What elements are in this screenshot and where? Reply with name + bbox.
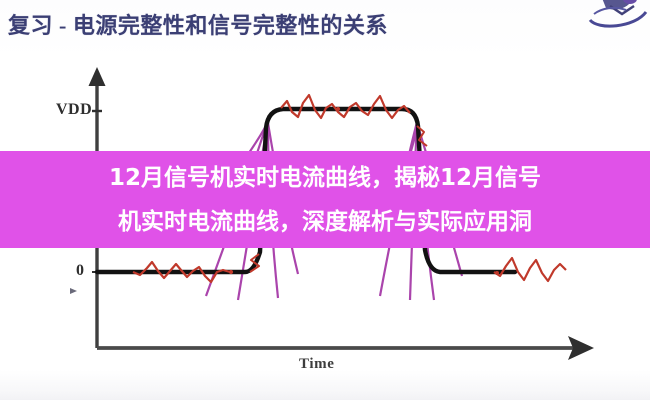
slide-canvas: VDD 0 Time 复习 - 电源完整性和信号完整性的关系 12月信号机实时电… (0, 0, 650, 400)
overlay-banner (0, 151, 650, 248)
y-axis-tick-vdd: VDD (56, 101, 92, 119)
y-axis-tick-zero: 0 (76, 262, 84, 280)
page-title: 复习 - 电源完整性和信号完整性的关系 (8, 8, 478, 40)
x-axis-label-time: Time (299, 356, 334, 373)
